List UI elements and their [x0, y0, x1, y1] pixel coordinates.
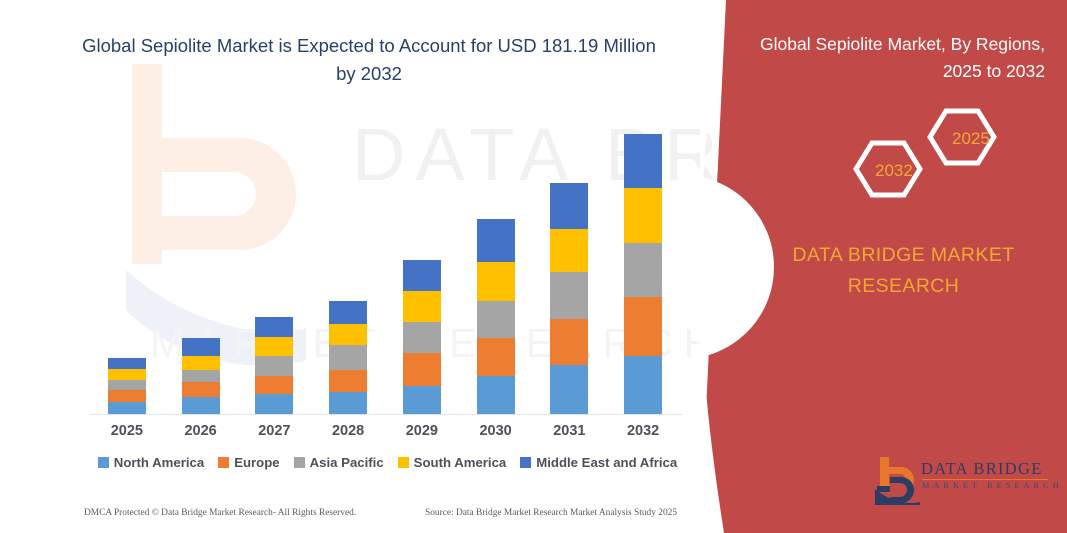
- legend-item-north-america[interactable]: North America: [98, 455, 204, 470]
- legend-swatch-icon: [398, 457, 409, 468]
- right-branding-panel: Global Sepiolite Market, By Regions, 202…: [700, 0, 1067, 533]
- legend-label: Asia Pacific: [310, 455, 384, 470]
- bar-segment-north-america-2029[interactable]: [403, 386, 441, 416]
- x-axis-label-2030: 2030: [461, 423, 531, 439]
- bar-segment-north-america-2027[interactable]: [255, 394, 293, 415]
- brand-name: DATA BRIDGE MARKET RESEARCH: [700, 240, 1067, 302]
- hexagon-year-badges: 2025 2032: [832, 105, 1032, 205]
- stacked-bar-2032[interactable]: [624, 134, 662, 415]
- bar-segment-north-america-2030[interactable]: [477, 376, 515, 415]
- data-bridge-logo: DATA BRIDGE MARKET RESEARCH: [875, 455, 1055, 507]
- legend-swatch-icon: [98, 457, 109, 468]
- chart-legend: North AmericaEuropeAsia PacificSouth Ame…: [90, 455, 685, 470]
- bar-segment-north-america-2032[interactable]: [624, 356, 662, 415]
- x-axis-label-2027: 2027: [239, 423, 309, 439]
- bar-segment-middle-east-and-africa-2031[interactable]: [550, 183, 588, 229]
- bar-segment-europe-2030[interactable]: [477, 338, 515, 375]
- legend-item-middle-east-and-africa[interactable]: Middle East and Africa: [520, 455, 677, 470]
- footer-copyright: DMCA Protected © Data Bridge Market Rese…: [84, 508, 356, 518]
- stacked-bar-2030[interactable]: [477, 219, 515, 415]
- bar-segment-south-america-2032[interactable]: [624, 188, 662, 243]
- stacked-bar-2031[interactable]: [550, 183, 588, 415]
- brand-name-line1: DATA BRIDGE MARKET: [740, 240, 1067, 271]
- panel-title: Global Sepiolite Market, By Regions, 202…: [745, 31, 1045, 85]
- bar-segment-south-america-2030[interactable]: [477, 262, 515, 301]
- stacked-bar-2026[interactable]: [182, 338, 220, 415]
- bar-segment-asia-pacific-2027[interactable]: [255, 356, 293, 376]
- x-axis-label-2028: 2028: [313, 423, 383, 439]
- x-axis-label-2029: 2029: [387, 423, 457, 439]
- bar-segment-middle-east-and-africa-2030[interactable]: [477, 219, 515, 261]
- x-axis-label-2025: 2025: [92, 423, 162, 439]
- logo-name: DATA BRIDGE: [921, 459, 1043, 479]
- legend-label: North America: [114, 455, 204, 470]
- brand-name-line2: RESEARCH: [740, 271, 1067, 302]
- bar-segment-north-america-2026[interactable]: [182, 397, 220, 415]
- hexagon-outline-icon: [832, 105, 1032, 205]
- bar-segment-middle-east-and-africa-2026[interactable]: [182, 338, 220, 356]
- bar-segment-north-america-2028[interactable]: [329, 392, 367, 415]
- bar-segment-asia-pacific-2030[interactable]: [477, 301, 515, 338]
- bar-segment-europe-2031[interactable]: [550, 319, 588, 365]
- x-axis-labels: 20252026202720282029203020312032: [90, 423, 682, 445]
- hexagon-label-2032: 2032: [875, 161, 913, 181]
- legend-label: Europe: [234, 455, 279, 470]
- bar-segment-asia-pacific-2029[interactable]: [403, 322, 441, 353]
- bar-segment-south-america-2029[interactable]: [403, 291, 441, 321]
- bar-segment-south-america-2028[interactable]: [329, 324, 367, 346]
- x-axis-line: [90, 414, 682, 415]
- bar-segment-middle-east-and-africa-2028[interactable]: [329, 301, 367, 324]
- legend-item-europe[interactable]: Europe: [218, 455, 279, 470]
- bar-segment-middle-east-and-africa-2029[interactable]: [403, 260, 441, 291]
- bar-segment-asia-pacific-2026[interactable]: [182, 370, 220, 382]
- stacked-bar-2028[interactable]: [329, 301, 367, 415]
- chart-title: Global Sepiolite Market is Expected to A…: [74, 32, 664, 88]
- bar-segment-north-america-2031[interactable]: [550, 365, 588, 415]
- bar-segment-europe-2032[interactable]: [624, 297, 662, 356]
- stacked-bar-chart-plot-area: [90, 120, 680, 415]
- bar-segment-europe-2028[interactable]: [329, 370, 367, 393]
- bar-segment-europe-2027[interactable]: [255, 376, 293, 395]
- bar-segment-asia-pacific-2025[interactable]: [108, 380, 146, 391]
- bar-segment-south-america-2027[interactable]: [255, 337, 293, 356]
- bar-segment-south-america-2031[interactable]: [550, 229, 588, 272]
- bar-segment-middle-east-and-africa-2027[interactable]: [255, 317, 293, 338]
- x-axis-label-2026: 2026: [166, 423, 236, 439]
- bar-segment-south-america-2025[interactable]: [108, 369, 146, 380]
- legend-swatch-icon: [218, 457, 229, 468]
- bar-segment-asia-pacific-2028[interactable]: [329, 345, 367, 370]
- legend-swatch-icon: [294, 457, 305, 468]
- legend-item-south-america[interactable]: South America: [398, 455, 507, 470]
- legend-label: South America: [414, 455, 507, 470]
- bar-segment-middle-east-and-africa-2025[interactable]: [108, 358, 146, 369]
- stacked-bar-2025[interactable]: [108, 358, 146, 415]
- stacked-bar-2027[interactable]: [255, 317, 293, 415]
- x-axis-label-2031: 2031: [534, 423, 604, 439]
- logo-divider: [922, 479, 1048, 480]
- bar-segment-south-america-2026[interactable]: [182, 356, 220, 370]
- legend-swatch-icon: [520, 457, 531, 468]
- data-bridge-b-logo-icon: [875, 455, 921, 505]
- infographic-canvas: DATA BRIDGE MARKET RESEARCH Global Sepio…: [0, 0, 1067, 533]
- footer-source: Source: Data Bridge Market Research Mark…: [425, 508, 677, 518]
- hexagon-label-2025: 2025: [952, 129, 990, 149]
- legend-label: Middle East and Africa: [536, 455, 677, 470]
- stacked-bar-2029[interactable]: [403, 260, 441, 415]
- bar-segment-europe-2026[interactable]: [182, 382, 220, 398]
- bar-segment-asia-pacific-2031[interactable]: [550, 272, 588, 318]
- bar-segment-europe-2029[interactable]: [403, 353, 441, 385]
- logo-subtitle: MARKET RESEARCH: [922, 481, 1063, 490]
- x-axis-label-2032: 2032: [608, 423, 678, 439]
- bar-segment-europe-2025[interactable]: [108, 390, 146, 402]
- legend-item-asia-pacific[interactable]: Asia Pacific: [294, 455, 384, 470]
- bar-segment-asia-pacific-2032[interactable]: [624, 243, 662, 297]
- bar-segment-middle-east-and-africa-2032[interactable]: [624, 134, 662, 188]
